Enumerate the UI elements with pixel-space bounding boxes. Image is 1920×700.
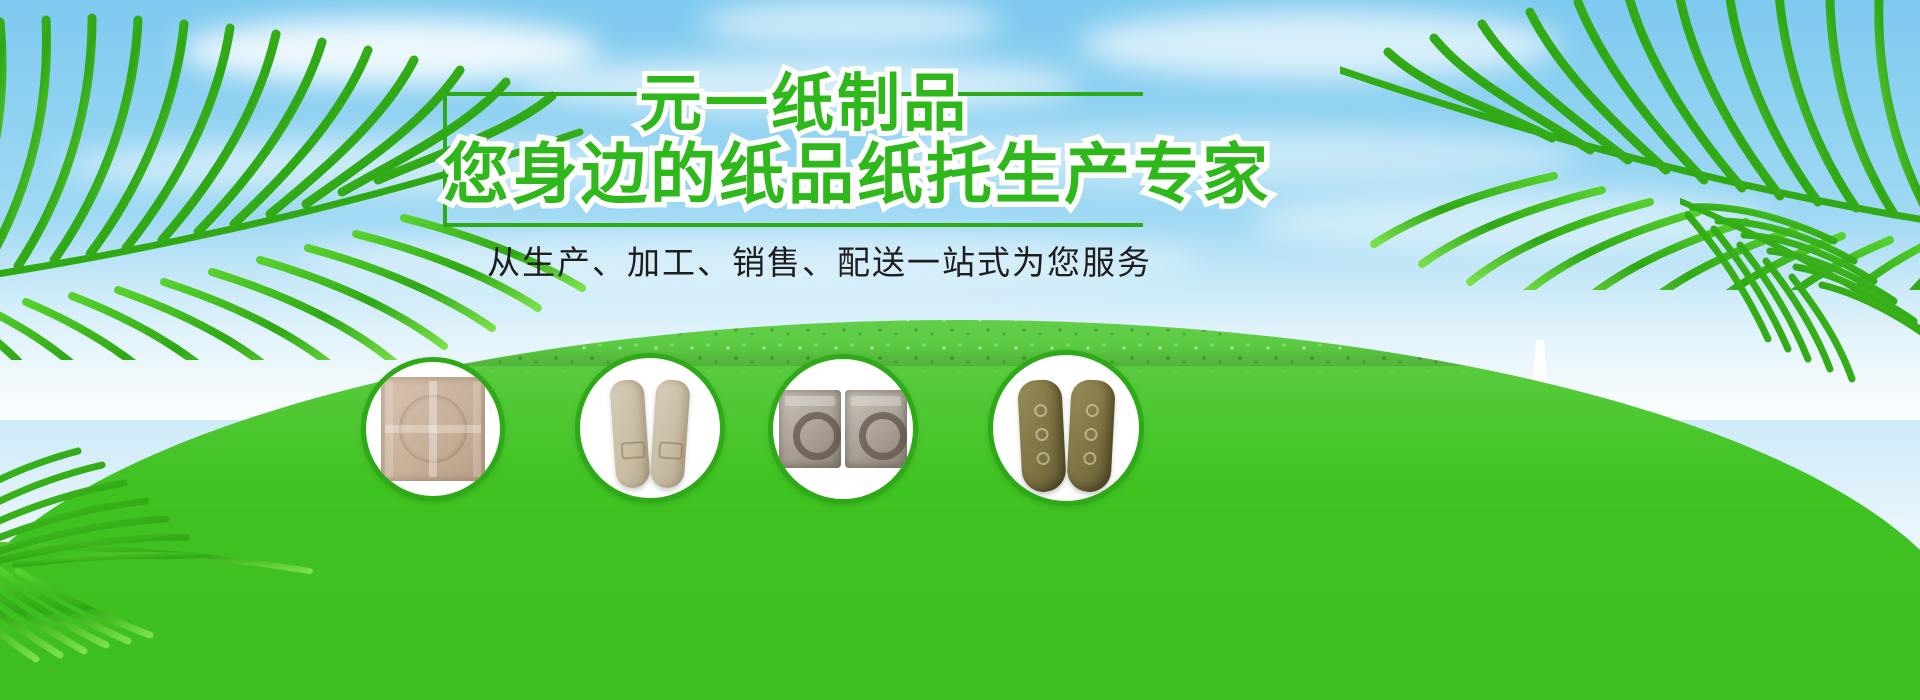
square-pulp-tray-icon <box>381 377 485 481</box>
pulp-shoe-insert-pair-icon <box>613 380 687 488</box>
olive-pulp-shoe-last-pair-icon <box>1020 380 1113 492</box>
cloud-shape <box>180 18 600 84</box>
banner-subtitle: 从生产、加工、销售、配送一站式为您服务 <box>487 236 1152 284</box>
product-circle-4[interactable]: 纸浆鞋楦 <box>988 350 1144 506</box>
cloud-shape <box>700 0 1000 48</box>
product-circle-1[interactable]: 方形纸托 <box>361 357 505 501</box>
grey-pulp-corner-pair-icon <box>779 390 907 468</box>
headline-line-1: 元一纸制品 <box>639 72 969 135</box>
product-circle-2[interactable]: 纸浆鞋撑 <box>575 353 725 503</box>
hero-banner: 元一纸制品 您身边的纸品纸托生产专家 从生产、加工、销售、配送一站式为您服务 方… <box>0 0 1920 700</box>
product-circle-3[interactable]: 灰纸托 <box>768 354 918 504</box>
headline-line-2: 您身边的纸品纸托生产专家 <box>443 142 1271 208</box>
cloud-shape <box>1080 10 1560 80</box>
headline-block: 元一纸制品 您身边的纸品纸托生产专家 <box>443 92 1143 227</box>
